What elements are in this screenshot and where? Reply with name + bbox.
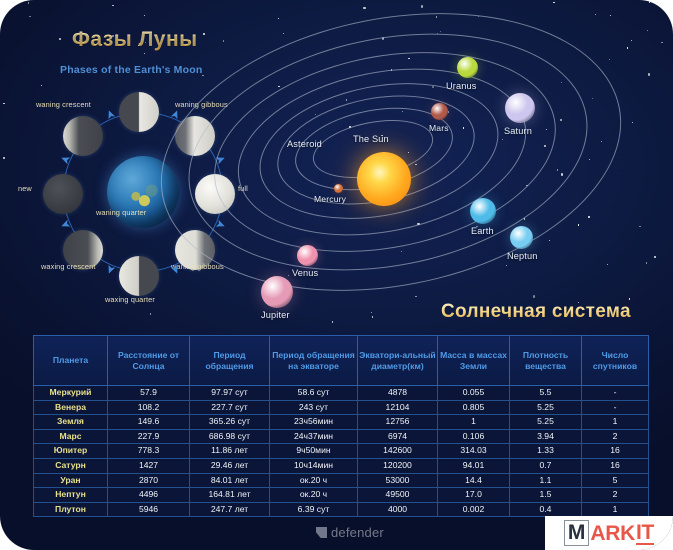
table-row: Юпитер778.311.86 лет9ч50мин142600314.031… [34, 444, 649, 459]
table-cell-r6-c1: 2870 [108, 473, 190, 488]
table-row: Меркурий57.997.97 сут58.6 сут48780.0555.… [34, 386, 649, 401]
table-cell-r8-c7: 1 [582, 502, 649, 517]
table-cell-r0-c5: 0.055 [438, 386, 510, 401]
moon-phase-1 [63, 116, 103, 156]
table-cell-r7-c7: 2 [582, 488, 649, 503]
solar-section-title: Солнечная система [441, 301, 631, 323]
star-dot [203, 33, 205, 35]
star-dot [332, 321, 333, 322]
orbit-arrow-icon [171, 265, 180, 274]
markit-box-letter: M [564, 520, 590, 546]
table-cell-planet-name: Марс [34, 429, 108, 444]
star-dot [553, 2, 554, 3]
table-cell-r8-c3: 6.39 сут [270, 502, 358, 517]
table-header-cell-0: Планета [34, 336, 108, 386]
star-dot [150, 313, 151, 314]
table-cell-r1-c1: 108.2 [108, 400, 190, 415]
table-header-cell-5: Масса в массах Земли [438, 336, 510, 386]
sun-label: The Sun [353, 134, 389, 144]
table-cell-r2-c3: 23ч56мин [270, 415, 358, 430]
table-cell-planet-name: Сатурн [34, 458, 108, 473]
table-header-cell-2: Период обращения [190, 336, 270, 386]
star-dot [112, 5, 113, 6]
star-dot [421, 5, 423, 7]
table-cell-r8-c4: 4000 [358, 502, 438, 517]
table-cell-r5-c3: 10ч14мин [270, 458, 358, 473]
moon-phase-label: waning quarter [96, 208, 146, 217]
table-cell-r7-c5: 17.0 [438, 488, 510, 503]
table-cell-r6-c3: ок.20 ч [270, 473, 358, 488]
planet-uranus-icon [457, 57, 478, 78]
poster-root: Фазы Луны Phases of the Earth's Moon wan… [0, 0, 673, 550]
table-cell-r3-c6: 3.94 [510, 429, 582, 444]
star-dot [41, 85, 42, 86]
table-cell-r1-c6: 5.25 [510, 400, 582, 415]
table-row: Нептун4496164.81 леток.20 ч4950017.01.52 [34, 488, 649, 503]
table-cell-r2-c1: 149.6 [108, 415, 190, 430]
table-cell-r8-c2: 247.7 лет [190, 502, 270, 517]
table-cell-r5-c4: 120200 [358, 458, 438, 473]
table-cell-r6-c2: 84.01 лет [190, 473, 270, 488]
table-cell-r4-c6: 1.33 [510, 444, 582, 459]
table-cell-r8-c6: 0.4 [510, 502, 582, 517]
table-cell-r1-c5: 0.805 [438, 400, 510, 415]
table-cell-r0-c2: 97.97 сут [190, 386, 270, 401]
table-cell-r7-c1: 4496 [108, 488, 190, 503]
table-cell-planet-name: Земля [34, 415, 108, 430]
star-dot [3, 103, 4, 104]
star-dot [372, 316, 373, 317]
defender-label: defender [331, 525, 384, 540]
star-dot [649, 1, 650, 2]
table-cell-r3-c4: 6974 [358, 429, 438, 444]
table-body: Меркурий57.997.97 сут58.6 сут48780.0555.… [34, 386, 649, 517]
table-header-cell-3: Период обращения на экваторе [270, 336, 358, 386]
table-cell-r7-c4: 49500 [358, 488, 438, 503]
star-dot [28, 2, 29, 3]
planet-mars-icon [431, 103, 448, 120]
moon-phase-label: waxing crescent [41, 262, 96, 271]
star-dot [223, 40, 224, 41]
table-cell-r0-c4: 4878 [358, 386, 438, 401]
defender-logo-icon [316, 527, 327, 538]
table-cell-r5-c1: 1427 [108, 458, 190, 473]
planet-data-table: ПланетаРасстояние от СолнцаПериод обраще… [33, 335, 649, 517]
table-cell-r3-c2: 686.98 сут [190, 429, 270, 444]
table-cell-r7-c2: 164.81 лет [190, 488, 270, 503]
table-cell-r0-c7: - [582, 386, 649, 401]
table-cell-r6-c5: 14.4 [438, 473, 510, 488]
table-header-cell-4: Экватори-альный диаметр(км) [358, 336, 438, 386]
markit-underlined-text: IT [636, 522, 654, 545]
orbit-arrow-icon [61, 220, 70, 229]
star-dot [647, 30, 648, 31]
table-cell-r5-c6: 0.7 [510, 458, 582, 473]
star-dot [59, 38, 61, 40]
star-dot [278, 18, 279, 19]
table-cell-planet-name: Нептун [34, 488, 108, 503]
planet-label-neptun: Neptun [507, 251, 538, 261]
table-cell-r6-c7: 5 [582, 473, 649, 488]
table-row: Плутон5946247.7 лет6.39 сут40000.0020.41 [34, 502, 649, 517]
planet-venus-icon [297, 245, 318, 266]
table-cell-r6-c4: 53000 [358, 473, 438, 488]
star-dot [631, 40, 632, 41]
planet-jupiter-icon [261, 276, 293, 308]
star-dot [661, 42, 662, 43]
planet-label-venus: Venus [292, 268, 318, 278]
planet-earth-icon [470, 198, 496, 224]
table-cell-r4-c1: 778.3 [108, 444, 190, 459]
table-cell-r4-c4: 142600 [358, 444, 438, 459]
table-cell-r5-c5: 94.01 [438, 458, 510, 473]
table-cell-r1-c2: 227.7 сут [190, 400, 270, 415]
table-cell-r3-c1: 227.9 [108, 429, 190, 444]
table-cell-r1-c3: 243 сут [270, 400, 358, 415]
table-row: Венера108.2227.7 сут243 сут121040.8055.2… [34, 400, 649, 415]
table-cell-r5-c2: 29.46 лет [190, 458, 270, 473]
star-dot [363, 7, 365, 9]
table-cell-r4-c2: 11.86 лет [190, 444, 270, 459]
moon-section-subtitle: Phases of the Earth's Moon [60, 64, 202, 76]
table-row: Марс227.9686.98 сут24ч37мин69740.1063.94… [34, 429, 649, 444]
table-cell-r8-c5: 0.002 [438, 502, 510, 517]
table-cell-r4-c5: 314.03 [438, 444, 510, 459]
table-cell-r2-c7: 1 [582, 415, 649, 430]
table-cell-r2-c5: 1 [438, 415, 510, 430]
table-cell-r2-c2: 365.26 сут [190, 415, 270, 430]
table-cell-r3-c3: 24ч37мин [270, 429, 358, 444]
planet-label-mercury: Mercury [314, 194, 346, 204]
markit-red-text: ARK [590, 523, 635, 544]
poster-board: Фазы Луны Phases of the Earth's Moon wan… [0, 0, 673, 550]
moon-phase-4 [119, 256, 159, 296]
table-cell-r3-c7: 2 [582, 429, 649, 444]
orbit-arrow-icon [106, 110, 115, 119]
table-header-cell-6: Плотность вещества [510, 336, 582, 386]
planet-data-table-wrapper: ПланетаРасстояние от СолнцаПериод обраще… [33, 335, 648, 517]
table-cell-r2-c4: 12756 [358, 415, 438, 430]
sun-icon [357, 152, 411, 206]
markit-watermark: M ARK IT [545, 516, 673, 550]
table-cell-r6-c6: 1.1 [510, 473, 582, 488]
table-cell-planet-name: Плутон [34, 502, 108, 517]
table-header-cell-7: Число спутников [582, 336, 649, 386]
table-cell-r4-c3: 9ч50мин [270, 444, 358, 459]
planet-neptun-icon [510, 226, 533, 249]
star-dot [595, 14, 596, 15]
table-cell-r1-c4: 12104 [358, 400, 438, 415]
table-row: Сатурн142729.46 лет10ч14мин12020094.010.… [34, 458, 649, 473]
orbit-arrow-icon [61, 155, 70, 164]
planet-label-uranus: Uranus [446, 81, 477, 91]
table-cell-r0-c1: 57.9 [108, 386, 190, 401]
table-row: Уран287084.01 леток.20 ч5300014.41.15 [34, 473, 649, 488]
table-cell-r1-c7: - [582, 400, 649, 415]
planet-label-mars: Mars [429, 123, 449, 133]
solar-system-diagram: The Sun Asteroid MercuryVenusEarthMarsJu… [262, 46, 673, 316]
star-dot [144, 53, 145, 54]
table-header: ПланетаРасстояние от СолнцаПериод обраще… [34, 336, 649, 386]
star-dot [29, 16, 30, 17]
table-cell-r2-c6: 5.25 [510, 415, 582, 430]
orbit-arrow-icon [106, 265, 115, 274]
moon-phase-label: waxing quarter [105, 295, 155, 304]
planet-label-earth: Earth [471, 226, 494, 236]
table-header-row: ПланетаРасстояние от СолнцаПериод обраще… [34, 336, 649, 386]
star-dot [144, 15, 145, 16]
table-cell-r0-c6: 5.5 [510, 386, 582, 401]
table-cell-r7-c6: 1.5 [510, 488, 582, 503]
table-cell-planet-name: Меркурий [34, 386, 108, 401]
planet-label-saturn: Saturn [504, 126, 532, 136]
table-cell-planet-name: Уран [34, 473, 108, 488]
table-cell-planet-name: Юпитер [34, 444, 108, 459]
star-dot [3, 157, 4, 158]
asteroid-label: Asteroid [287, 139, 322, 149]
planet-saturn-icon [505, 93, 535, 123]
moon-phase-label: waning crescent [36, 100, 91, 109]
table-cell-r5-c7: 16 [582, 458, 649, 473]
table-header-cell-1: Расстояние от Солнца [108, 336, 190, 386]
moon-phase-0 [119, 92, 159, 132]
orbit-arrow-icon [171, 110, 180, 119]
table-cell-r7-c3: ок.20 ч [270, 488, 358, 503]
table-cell-r3-c5: 0.106 [438, 429, 510, 444]
moon-section-title: Фазы Луны [72, 28, 198, 52]
moon-phase-label: new [18, 184, 32, 193]
defender-watermark: defender [316, 525, 384, 540]
planet-label-jupiter: Jupiter [261, 310, 290, 320]
star-dot [283, 33, 284, 34]
star-dot [610, 15, 611, 16]
star-dot [202, 75, 203, 76]
moon-phase-2 [43, 174, 83, 214]
table-cell-r8-c1: 5946 [108, 502, 190, 517]
table-cell-r0-c3: 58.6 сут [270, 386, 358, 401]
table-cell-planet-name: Венера [34, 400, 108, 415]
table-cell-r4-c7: 16 [582, 444, 649, 459]
planet-mercury-icon [334, 184, 343, 193]
table-row: Земля149.6365.26 сут23ч56мин1275615.251 [34, 415, 649, 430]
